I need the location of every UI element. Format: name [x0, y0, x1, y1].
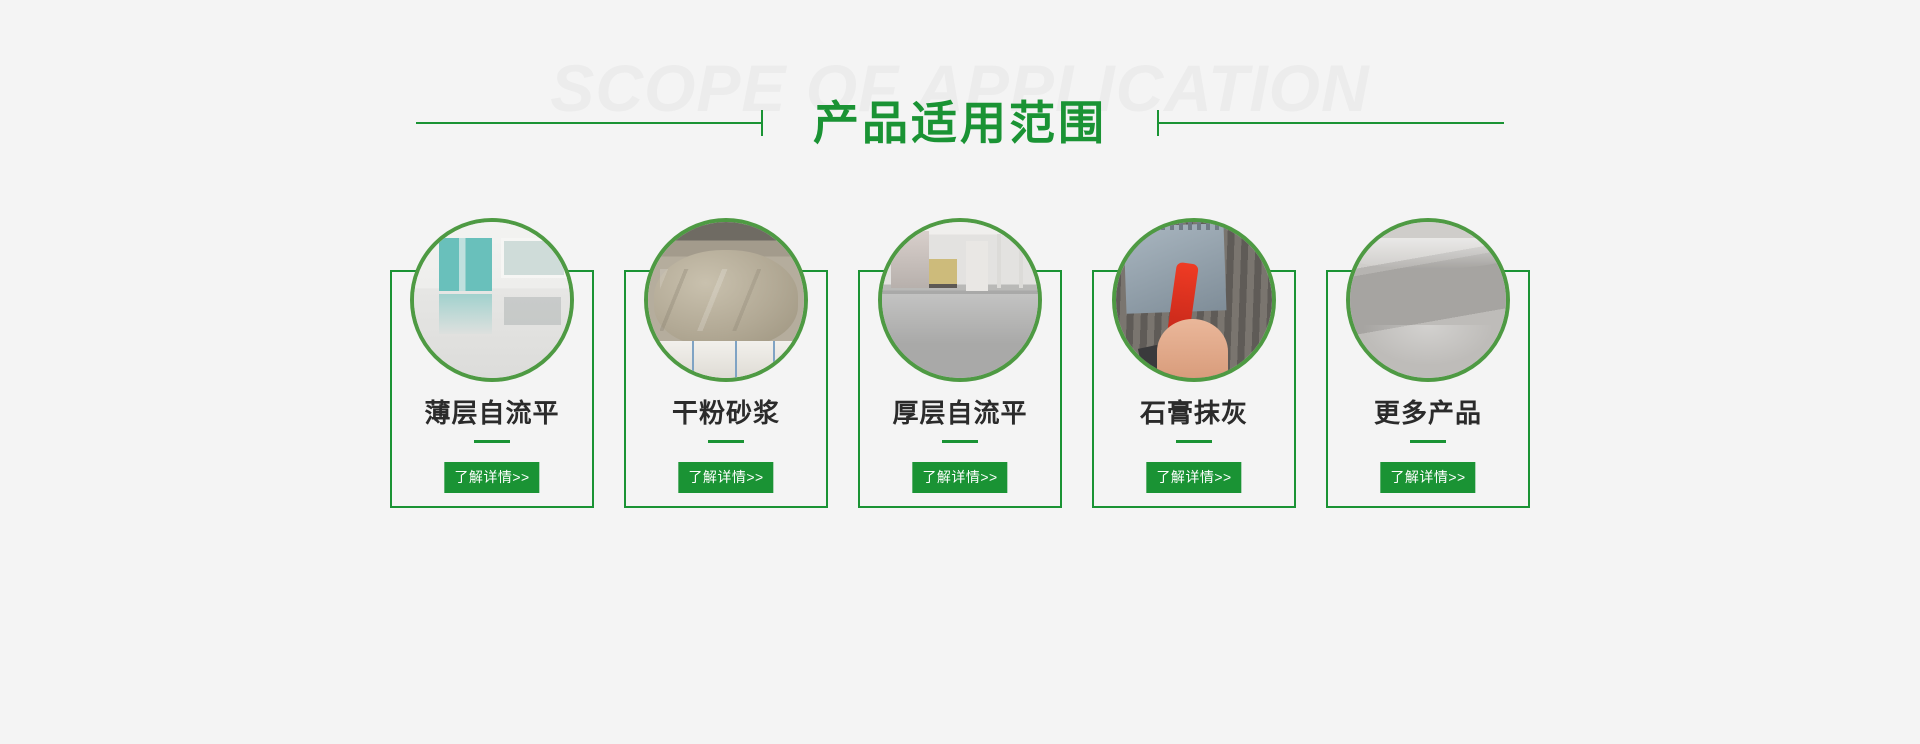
title-rule-right: [1159, 122, 1504, 124]
learn-more-button[interactable]: 了解详情>>: [1380, 462, 1475, 493]
thick-layer-self-leveling-floor-photo: [882, 222, 1038, 378]
thin-layer-self-leveling-floor-photo: [414, 222, 570, 378]
card-image-circle[interactable]: [1112, 218, 1276, 382]
section-title-row: 产品适用范围: [0, 100, 1920, 146]
product-card-more-products[interactable]: 更多产品 了解详情>>: [1326, 218, 1530, 518]
product-card-list: 薄层自流平 了解详情>> 干粉砂浆 了解详情>>: [0, 218, 1920, 518]
learn-more-button[interactable]: 了解详情>>: [444, 462, 539, 493]
card-image-circle[interactable]: [644, 218, 808, 382]
product-card-gypsum-plastering[interactable]: 石膏抹灰 了解详情>>: [1092, 218, 1296, 518]
title-tick-left: [761, 110, 763, 136]
section-header: SCOPE OF APPLICATION 产品适用范围: [0, 0, 1920, 185]
card-image-circle[interactable]: [1346, 218, 1510, 382]
dry-powder-mortar-photo: [648, 222, 804, 378]
product-card-dry-powder-mortar[interactable]: 干粉砂浆 了解详情>>: [624, 218, 828, 518]
title-underline: [942, 440, 978, 443]
title-underline: [1176, 440, 1212, 443]
card-image-circle[interactable]: [878, 218, 1042, 382]
card-title: 薄层自流平: [390, 400, 594, 426]
product-card-thick-layer-self-leveling[interactable]: 厚层自流平 了解详情>>: [858, 218, 1062, 518]
gypsum-plastering-trowel-photo: [1116, 222, 1272, 378]
card-title: 干粉砂浆: [624, 400, 828, 426]
card-title: 厚层自流平: [858, 400, 1062, 426]
title-underline: [708, 440, 744, 443]
title-rule-left: [416, 122, 761, 124]
card-title: 更多产品: [1326, 400, 1530, 426]
page-title: 产品适用范围: [807, 100, 1113, 146]
learn-more-button[interactable]: 了解详情>>: [678, 462, 773, 493]
card-image-circle[interactable]: [410, 218, 574, 382]
more-products-surface-photo: [1350, 222, 1506, 378]
title-underline: [1410, 440, 1446, 443]
title-underline: [474, 440, 510, 443]
card-title: 石膏抹灰: [1092, 400, 1296, 426]
learn-more-button[interactable]: 了解详情>>: [912, 462, 1007, 493]
learn-more-button[interactable]: 了解详情>>: [1146, 462, 1241, 493]
product-card-thin-layer-self-leveling[interactable]: 薄层自流平 了解详情>>: [390, 218, 594, 518]
